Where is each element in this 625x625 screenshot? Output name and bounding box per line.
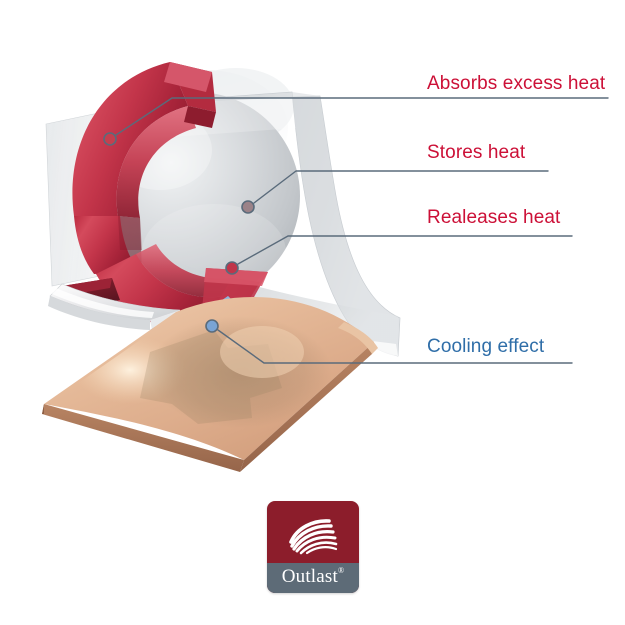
marker-releases — [226, 262, 238, 274]
callout-label-absorbs: Absorbs excess heat — [427, 74, 605, 93]
logo-registered-mark: ® — [338, 566, 344, 575]
callout-label-stores: Stores heat — [427, 143, 525, 162]
callout-label-releases: Realeases heat — [427, 208, 560, 227]
diagram-canvas: Absorbs excess heat Stores heat Realease… — [0, 0, 625, 625]
logo-wordmark: Outlast® — [282, 566, 345, 588]
marker-absorbs — [104, 133, 116, 145]
logo-band: Outlast® — [267, 563, 359, 593]
outlast-swoosh-icon — [285, 515, 341, 557]
logo-brand-text: Outlast — [282, 566, 338, 587]
marker-stores — [242, 201, 254, 213]
marker-cooling — [206, 320, 218, 332]
logo-card: Outlast® — [267, 501, 359, 593]
callout-label-cooling: Cooling effect — [427, 337, 544, 356]
outlast-logo: Outlast® — [267, 501, 359, 593]
